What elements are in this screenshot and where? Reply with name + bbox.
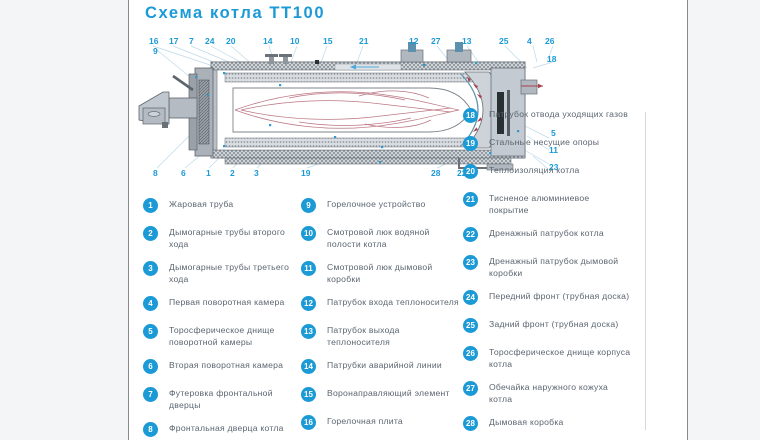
legend-item-2: 2 Дымогарные трубы второго хода [143,226,295,250]
legend-label-21: Тисненое алюминиевое покрытие [489,192,631,216]
legend-label-23: Дренажный патрубок дымовой коробки [489,255,631,279]
legend-item-7: 7 Футеровка фронтальной дверцы [143,387,295,411]
legend-badge-20: 20 [463,164,478,179]
legend-label-28: Дымовая коробка [489,416,631,429]
legend-badge-1: 1 [143,198,158,213]
legend-badge-2: 2 [143,226,158,241]
callout-25: 25 [499,36,508,46]
legend-item-21: 21 Тисненое алюминиевое покрытие [463,192,631,216]
legend-badge-14: 14 [301,359,316,374]
callout-27: 27 [431,36,440,46]
legend-label-4: Первая поворотная камера [169,296,295,309]
legend-label-12: Патрубок входа теплоносителя [327,296,459,309]
callout-21: 21 [359,36,368,46]
callout-26: 26 [545,36,554,46]
legend-item-28: 28 Дымовая коробка [463,416,631,433]
callout-3-bottom: 3 [254,168,259,178]
legend-column-1: 1 Жаровая труба 2 Дымогарные трубы второ… [143,198,295,440]
legend-item-10: 10 Смотровой люк водяной полости котла [301,226,459,250]
legend-badge-13: 13 [301,324,316,339]
legend-label-26: Торосферическое днище корпуса котла [489,346,631,370]
legend-label-16: Горелочная плита [327,415,459,428]
callout-8-bottom: 8 [153,168,158,178]
legend-column-2: 9 Горелочное устройство 10 Смотровой люк… [301,198,459,440]
callout-13: 13 [462,36,471,46]
callout-14: 14 [263,36,272,46]
legend-item-5: 5 Торосферическое днище поворотной камер… [143,324,295,348]
callout-2-bottom: 2 [230,168,235,178]
legend-item-1: 1 Жаровая труба [143,198,295,215]
legend-item-20: 20 Теплоизоляция котла [463,164,631,181]
legend-badge-5: 5 [143,324,158,339]
callout-7: 7 [189,36,194,46]
legend-item-12: 12 Патрубок входа теплоносителя [301,296,459,313]
legend-item-27: 27 Обечайка наружного кожуха котла [463,381,631,405]
legend-badge-19: 19 [463,136,478,151]
legend-label-27: Обечайка наружного кожуха котла [489,381,631,405]
callout-16: 16 [149,36,158,46]
legend-label-6: Вторая поворотная камера [169,359,295,372]
legend-badge-12: 12 [301,296,316,311]
legend-badge-10: 10 [301,226,316,241]
legend-item-23: 23 Дренажный патрубок дымовой коробки [463,255,631,279]
callout-12: 12 [409,36,418,46]
legend-item-15: 15 Воронаправляющий элемент [301,387,459,404]
legend-badge-11: 11 [301,261,316,276]
legend-item-4: 4 Первая поворотная камера [143,296,295,313]
legend-item-22: 22 Дренажный патрубок котла [463,227,631,244]
legend-badge-18: 18 [463,108,478,123]
legend-label-3: Дымогарные трубы третьего хода [169,261,295,285]
callout-17: 17 [169,36,178,46]
legend-label-24: Передний фронт (трубная доска) [489,290,631,303]
legend-label-9: Горелочное устройство [327,198,459,211]
legend-item-6: 6 Вторая поворотная камера [143,359,295,376]
legend-item-9: 9 Горелочное устройство [301,198,459,215]
legend-badge-21: 21 [463,192,478,207]
callout-10: 10 [290,36,299,46]
callout-20: 20 [226,36,235,46]
legend-label-20: Теплоизоляция котла [489,164,631,177]
burner-unit [139,76,197,128]
legend-badge-7: 7 [143,387,158,402]
legend-label-7: Футеровка фронтальной дверцы [169,387,295,411]
legend-badge-6: 6 [143,359,158,374]
legend-badge-23: 23 [463,255,478,270]
legend-label-5: Торосферическое днище поворотной камеры [169,324,295,348]
legend-badge-27: 27 [463,381,478,396]
legend-label-2: Дымогарные трубы второго хода [169,226,295,250]
legend-label-18: Патрубок отвода уходящих газов [489,108,631,121]
legend: 1 Жаровая труба 2 Дымогарные трубы второ… [129,198,688,440]
callout-9-left: 9 [153,46,158,56]
legend-label-1: Жаровая труба [169,198,295,211]
legend-item-26: 26 Торосферическое днище корпуса котла [463,346,631,370]
legend-label-10: Смотровой люк водяной полости котла [327,226,459,250]
page-title: Схема котла ТТ100 [145,4,325,23]
callout-4: 4 [527,36,532,46]
callout-28-bottom: 28 [431,168,440,178]
legend-item-25: 25 Задний фронт (трубная доска) [463,318,631,335]
legend-label-22: Дренажный патрубок котла [489,227,631,240]
legend-label-15: Воронаправляющий элемент [327,387,459,400]
legend-badge-16: 16 [301,415,316,430]
legend-badge-8: 8 [143,422,158,437]
legend-item-24: 24 Передний фронт (трубная доска) [463,290,631,307]
callout-18-right: 18 [547,54,556,64]
legend-item-18: 18 Патрубок отвода уходящих газов [463,108,631,125]
legend-label-13: Патрубок выхода теплоносителя [327,324,459,348]
legend-badge-25: 25 [463,318,478,333]
legend-badge-9: 9 [301,198,316,213]
legend-item-14: 14 Патрубки аварийной линии [301,359,459,376]
callout-1-bottom: 1 [206,168,211,178]
legend-badge-28: 28 [463,416,478,431]
legend-badge-4: 4 [143,296,158,311]
legend-badge-3: 3 [143,261,158,276]
legend-item-19: 19 Стальные несущие опоры [463,136,631,153]
legend-badge-22: 22 [463,227,478,242]
legend-column-3: 18 Патрубок отвода уходящих газов 19 Ста… [463,108,631,440]
content-panel: Схема котла ТТ100 [128,0,688,440]
callout-19-bottom: 19 [301,168,310,178]
callout-15: 15 [323,36,332,46]
legend-label-25: Задний фронт (трубная доска) [489,318,631,331]
legend-item-3: 3 Дымогарные трубы третьего хода [143,261,295,285]
callout-6-bottom: 6 [181,168,186,178]
legend-badge-24: 24 [463,290,478,305]
legend-item-13: 13 Патрубок выхода теплоносителя [301,324,459,348]
legend-label-19: Стальные несущие опоры [489,136,631,149]
callout-24: 24 [205,36,214,46]
legend-item-11: 11 Смотровой люк дымовой коробки [301,261,459,285]
legend-badge-26: 26 [463,346,478,361]
legend-label-11: Смотровой люк дымовой коробки [327,261,459,285]
legend-badge-15: 15 [301,387,316,402]
legend-label-8: Фронтальная дверца котла [169,422,295,435]
legend-item-16: 16 Горелочная плита [301,415,459,432]
legend-label-14: Патрубки аварийной линии [327,359,459,372]
legend-item-8: 8 Фронтальная дверца котла [143,422,295,439]
